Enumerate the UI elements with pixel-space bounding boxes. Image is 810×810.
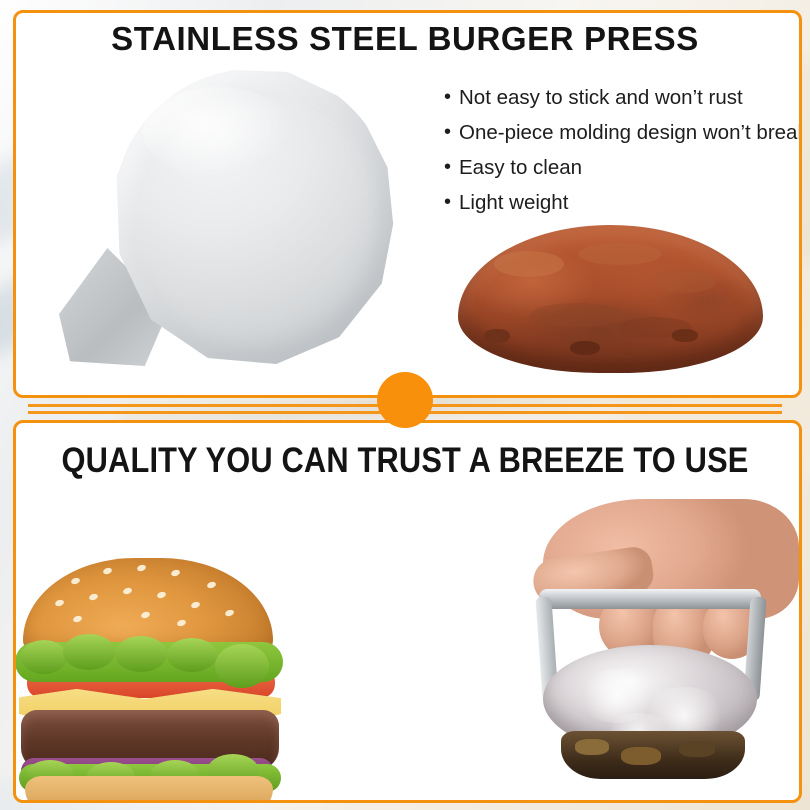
patty-texture — [530, 303, 626, 327]
lettuce-frill — [63, 634, 115, 670]
feature-text: Not easy to stick and won’t rust — [459, 83, 743, 112]
patty-texture — [654, 269, 716, 293]
press-handle-bar — [539, 589, 761, 609]
bullet-icon: • — [444, 188, 459, 216]
lettuce-frill — [21, 640, 67, 674]
orange-circle-divider — [377, 372, 433, 428]
patty-char-spot — [575, 739, 609, 755]
patty-texture — [578, 243, 662, 265]
bottom-panel-title: QUALITY YOU CAN TRUST A BREEZE TO USE — [49, 441, 762, 481]
patty-char-spot — [679, 741, 715, 757]
lettuce-frill — [115, 636, 167, 672]
hand-press-image — [503, 501, 799, 800]
cheeseburger-image — [13, 558, 301, 800]
patty-texture — [494, 251, 564, 277]
feature-list: • Not easy to stick and won’t rust • One… — [444, 83, 802, 223]
feature-item: • Easy to clean — [444, 153, 802, 182]
bullet-icon: • — [444, 83, 459, 111]
press-disc-highlight — [143, 87, 293, 177]
feature-text: Easy to clean — [459, 153, 582, 182]
product-infographic: • Not easy to stick and won’t rust • One… — [0, 0, 810, 810]
feature-item: • One-piece molding design won’t break — [444, 118, 802, 147]
bullet-icon: • — [444, 118, 459, 146]
patty-crumb — [484, 329, 510, 343]
burger-bottom-bun — [25, 776, 273, 803]
top-panel: • Not easy to stick and won’t rust • One… — [13, 10, 802, 398]
patty-crumb — [672, 329, 698, 342]
burger-press-image — [51, 63, 381, 373]
lettuce-frill — [215, 644, 269, 688]
beef-patty-image — [458, 225, 763, 373]
patty-crumb — [570, 341, 600, 355]
top-panel-title: STAINLESS STEEL BURGER PRESS — [0, 20, 810, 58]
bullet-icon: • — [444, 153, 459, 181]
lettuce-frill — [167, 638, 217, 672]
patty-char-spot — [621, 747, 661, 765]
feature-text: One-piece molding design won’t break — [459, 118, 802, 147]
feature-item: • Not easy to stick and won’t rust — [444, 83, 802, 112]
feature-text: Light weight — [459, 188, 568, 217]
feature-item: • Light weight — [444, 188, 802, 217]
